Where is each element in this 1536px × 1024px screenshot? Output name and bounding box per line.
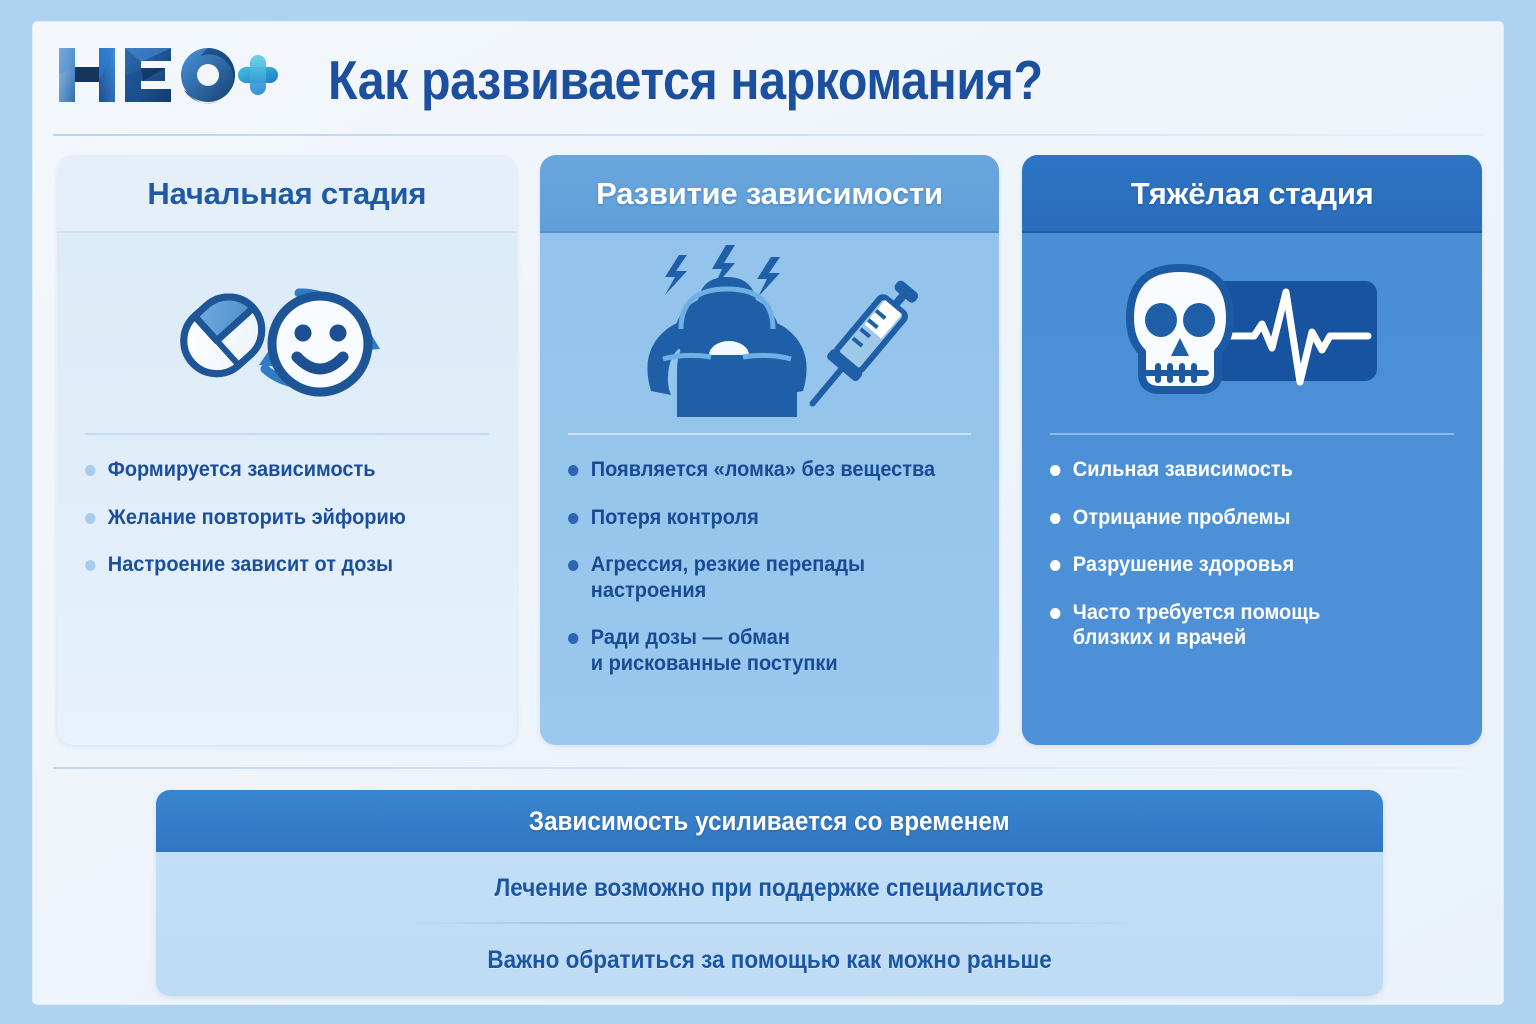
bullet-dot-icon <box>85 465 95 476</box>
stage-card-title: Начальная стадия <box>147 176 426 212</box>
list-item: Появляется «ломка» без вещества <box>568 457 957 483</box>
stage-bullet-list: Формируется зависимость Желание повторит… <box>57 435 517 745</box>
page-header: Как развивается наркомания? <box>33 22 1503 132</box>
list-item: Потеря контроля <box>568 505 957 531</box>
stage-card-body: Сильная зависимость Отрицание проблемы Р… <box>1022 233 1482 745</box>
bullet-dot-icon <box>568 560 578 571</box>
stage-card-title: Развитие зависимости <box>596 176 943 212</box>
stage-card-developing[interactable]: Развитие зависимости <box>540 155 1000 745</box>
summary-row-text: Важно обратиться за помощью как можно ра… <box>487 946 1051 975</box>
bullet-text: Желание повторить эйфорию <box>108 505 406 531</box>
bullet-text: Потеря контроля <box>590 505 758 531</box>
bullet-dot-icon <box>568 513 578 524</box>
bullet-text: Ради дозы — обман и рискованные поступки <box>590 625 837 676</box>
bullet-text: Часто требуется помощь близких и врачей <box>1073 600 1321 651</box>
bullet-dot-icon <box>1050 513 1060 524</box>
stage-card-initial[interactable]: Начальная стадия <box>57 155 517 745</box>
header-divider <box>53 134 1483 136</box>
bullet-dot-icon <box>85 513 95 524</box>
skull-ecg-icon <box>1022 233 1482 433</box>
bullet-text: Появляется «ломка» без вещества <box>590 457 934 483</box>
stage-card-severe[interactable]: Тяжёлая стадия <box>1022 155 1482 745</box>
bullet-text: Настроение зависит от дозы <box>108 552 393 578</box>
bullet-dot-icon <box>1050 560 1060 571</box>
bullet-dot-icon <box>1050 608 1060 619</box>
stage-card-title: Тяжёлая стадия <box>1131 176 1374 212</box>
list-item: Агрессия, резкие перепады настроения <box>568 552 957 603</box>
bullet-dot-icon <box>1050 465 1060 476</box>
stage-card-body: Появляется «ломка» без вещества Потеря к… <box>540 233 1000 745</box>
summary-row-text: Лечение возможно при поддержке специалис… <box>495 874 1044 903</box>
section-divider <box>53 767 1483 769</box>
list-item: Часто требуется помощь близких и врачей <box>1050 600 1439 651</box>
summary-banner: Зависимость усиливается со временем Лече… <box>156 790 1383 996</box>
bullet-text: Формируется зависимость <box>108 457 376 483</box>
summary-banner-body: Лечение возможно при поддержке специалис… <box>156 852 1383 996</box>
summary-headline: Зависимость усиливается со временем <box>529 806 1010 837</box>
summary-row: Важно обратиться за помощью как можно ра… <box>156 924 1383 996</box>
bullet-dot-icon <box>568 633 578 644</box>
list-item: Формируется зависимость <box>85 457 474 483</box>
bullet-text: Разрушение здоровья <box>1073 552 1294 578</box>
stage-card-header: Начальная стадия <box>57 155 517 233</box>
pill-smiley-cycle-icon <box>57 233 517 433</box>
bullet-text: Сильная зависимость <box>1073 457 1293 483</box>
list-item: Сильная зависимость <box>1050 457 1439 483</box>
stage-bullet-list: Сильная зависимость Отрицание проблемы Р… <box>1022 435 1482 745</box>
stage-card-body: Формируется зависимость Желание повторит… <box>57 233 517 745</box>
summary-row: Лечение возможно при поддержке специалис… <box>156 852 1383 924</box>
bullet-text: Агрессия, резкие перепады настроения <box>590 552 956 603</box>
list-item: Разрушение здоровья <box>1050 552 1439 578</box>
stage-card-header: Развитие зависимости <box>540 155 1000 233</box>
bullet-dot-icon <box>568 465 578 476</box>
page-title: Как развивается наркомания? <box>328 48 1043 112</box>
list-item: Отрицание проблемы <box>1050 505 1439 531</box>
list-item: Ради дозы — обман и рискованные поступки <box>568 625 957 676</box>
stressed-person-syringe-icon <box>540 233 1000 433</box>
infographic-page: Как развивается наркомания? Начальная ст… <box>33 22 1503 1004</box>
list-item: Настроение зависит от дозы <box>85 552 474 578</box>
stage-bullet-list: Появляется «ломка» без вещества Потеря к… <box>540 435 1000 745</box>
bullet-dot-icon <box>85 560 95 571</box>
list-item: Желание повторить эйфорию <box>85 505 474 531</box>
stage-card-header: Тяжёлая стадия <box>1022 155 1482 233</box>
summary-banner-header: Зависимость усиливается со временем <box>156 790 1383 852</box>
bullet-text: Отрицание проблемы <box>1073 505 1291 531</box>
neo-plus-logo <box>53 40 278 110</box>
stages-cards-row: Начальная стадия <box>57 155 1482 745</box>
